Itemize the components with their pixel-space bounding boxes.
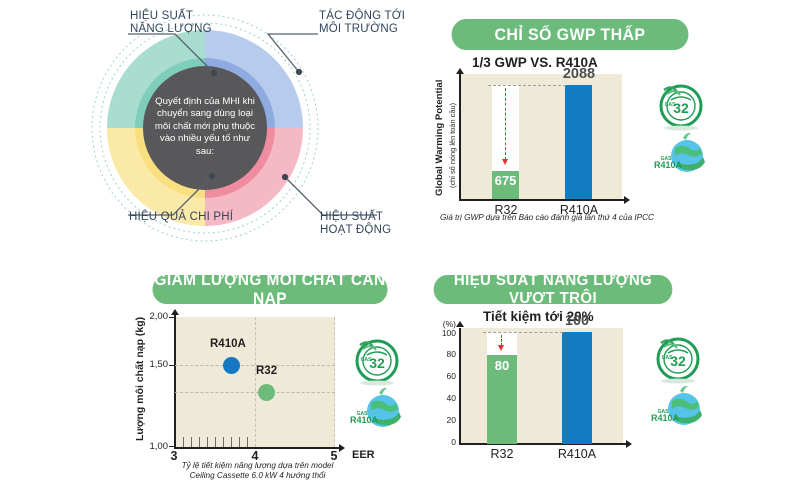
efficiency-ytick-0: 0	[430, 437, 456, 447]
donut-label-cost-efficiency[interactable]: HIỆU QUẢ CHI PHÍ	[129, 211, 233, 224]
gwp-bar-r410a[interactable]	[565, 85, 592, 199]
charge-footnote-line1: Tỷ lệ tiết kiệm năng lượng dựa trên mode…	[150, 461, 365, 471]
charge-title-pill: GIẢM LƯỢNG MÔI CHẤT CẦN NẠP	[153, 275, 388, 304]
gwp-value-r32: 675	[492, 173, 519, 188]
charge-minor-tick	[199, 437, 200, 447]
efficiency-title-pill: HIỆU SUẤT NĂNG LƯỢNG VƯỢT TRỘI	[434, 275, 673, 304]
efficiency-badge-group: 32 GAS GAS R410A	[650, 333, 708, 434]
charge-ytick-100	[169, 446, 175, 447]
decision-factors-donut-panel: Quyết định của MHI khi chuyển sang dùng …	[0, 0, 410, 255]
svg-text:GAS: GAS	[665, 102, 677, 108]
efficiency-bar-r410a[interactable]	[562, 332, 592, 444]
efficiency-value-r410a: 100	[548, 313, 606, 329]
efficiency-ytick-80: 80	[430, 349, 456, 359]
efficiency-reference-line	[483, 332, 563, 333]
svg-text:R410A: R410A	[654, 160, 683, 170]
charge-minor-tick	[215, 437, 216, 447]
charge-minor-tick	[223, 437, 224, 447]
efficiency-ytick-60: 60	[430, 371, 456, 381]
efficiency-x-axis-arrow	[626, 440, 632, 448]
charge-minor-tick	[239, 437, 240, 447]
charge-y-axis	[174, 315, 176, 447]
gwp-x-axis-arrow	[624, 196, 630, 204]
charge-minor-tick	[231, 437, 232, 447]
gwp-ylabel-sub: (chỉ số nóng lên toàn cầu)	[448, 103, 457, 188]
svg-text:32: 32	[673, 100, 689, 116]
efficiency-ytick-100: 100	[430, 328, 456, 338]
charge-ylabel-title: Lượng môi chất nạp (kg)	[134, 317, 146, 441]
donut-center-text: Quyết định của MHI khi chuyển sang dùng …	[153, 96, 257, 158]
leader-dot-cost-efficiency	[209, 173, 215, 179]
charge-axis-unit-eer: EER	[352, 449, 375, 461]
gwp-ylabel-main: Global Warming Potential	[434, 80, 445, 196]
charge-ytick-200	[169, 317, 175, 318]
r32-badge-icon: 32 GAS	[661, 86, 701, 130]
gwp-drop-arrow-head	[502, 159, 508, 165]
charge-minor-tick	[183, 437, 184, 447]
efficiency-panel: HIỆU SUẤT NĂNG LƯỢNG VƯỢT TRỘI Tiết kiệm…	[410, 255, 800, 500]
refrigerant-badges-svg: 32 GAS GAS R410A	[349, 335, 407, 431]
leader-dot-energy-efficiency	[211, 70, 217, 76]
gwp-plot-area	[460, 74, 622, 199]
donut-label-energy-efficiency[interactable]: HIỆU SUẤT NĂNG LƯỢNG	[130, 10, 212, 36]
leader-dot-operating-performance	[282, 174, 288, 180]
r410a-badge-icon: GAS R410A	[654, 133, 705, 172]
charge-point-label-r410a: R410A	[210, 338, 246, 350]
donut-label-operating-performance[interactable]: HIỆU SUẤT HOẠT ĐỘNG	[320, 211, 391, 237]
efficiency-x-axis	[459, 443, 627, 445]
efficiency-category-r410a: R410A	[549, 447, 605, 461]
donut-label-environment-impact[interactable]: TÁC ĐỘNG TỚI MÔI TRƯỜNG	[319, 10, 405, 36]
charge-gridline-x4	[255, 317, 256, 447]
charge-minor-tick	[207, 437, 208, 447]
svg-text:32: 32	[670, 353, 686, 369]
r32-badge-icon: 32 GAS	[658, 339, 698, 383]
charge-panel: GIẢM LƯỢNG MÔI CHẤT CẦN NẠP 2,00 1,50 1,…	[0, 255, 410, 500]
gwp-value-r410a: 2088	[551, 66, 607, 82]
charge-ytick-150	[169, 365, 175, 366]
efficiency-category-r32: R32	[479, 447, 525, 461]
efficiency-value-r32: 80	[487, 358, 517, 373]
charge-minor-tick	[191, 437, 192, 447]
efficiency-y-axis	[459, 328, 461, 444]
charge-point-label-r32: R32	[256, 365, 277, 377]
r410a-badge-icon: GAS R410A	[350, 388, 401, 427]
svg-text:R410A: R410A	[350, 415, 379, 425]
gwp-reference-line	[488, 85, 566, 86]
gwp-badge-group: 32 GAS GAS R410A	[653, 80, 711, 181]
svg-text:GAS: GAS	[662, 355, 674, 361]
efficiency-plot-area	[460, 328, 623, 443]
leader-dot-environment-impact	[296, 69, 302, 75]
charge-badge-group: 32 GAS GAS R410A	[349, 335, 407, 436]
charge-point-r410a[interactable]	[223, 357, 240, 374]
gwp-y-axis	[459, 74, 461, 200]
svg-text:GAS: GAS	[361, 357, 373, 363]
gwp-footnote: Giá trị GWP dựa trên Báo cáo đánh giá lầ…	[422, 213, 672, 223]
gwp-title-pill: CHỈ SỐ GWP THẤP	[452, 19, 689, 50]
gwp-panel: CHỈ SỐ GWP THẤP 1/3 GWP VS. R410A 675 20…	[410, 0, 800, 255]
charge-gridline-x5	[334, 317, 335, 447]
efficiency-ytick-20: 20	[430, 415, 456, 425]
efficiency-ytick-40: 40	[430, 393, 456, 403]
r32-badge-icon: 32 GAS	[357, 341, 397, 385]
refrigerant-badges-svg: 32 GAS GAS R410A	[650, 333, 708, 429]
refrigerant-badges-svg: 32 GAS GAS R410A	[653, 80, 711, 176]
gwp-drop-arrow-line	[505, 88, 506, 160]
efficiency-drop-arrow-head	[498, 345, 504, 351]
charge-minor-tick	[247, 437, 248, 447]
infographic-page: Quyết định của MHI khi chuyển sang dùng …	[0, 0, 800, 500]
gwp-x-axis	[459, 199, 625, 201]
r410a-badge-icon: GAS R410A	[651, 386, 702, 425]
efficiency-y-axis-arrow	[456, 321, 464, 327]
svg-text:R410A: R410A	[651, 413, 680, 423]
gwp-y-axis-arrow	[456, 68, 464, 74]
charge-y-axis-arrow	[171, 309, 179, 315]
charge-point-r32[interactable]	[258, 384, 275, 401]
svg-text:32: 32	[369, 355, 385, 371]
efficiency-bar-r32-ghost	[487, 332, 517, 355]
charge-footnote-line2: Ceiling Cassette 6.0 kW 4 hướng thổi	[150, 471, 365, 481]
leader-line-operating-performance	[285, 177, 377, 215]
